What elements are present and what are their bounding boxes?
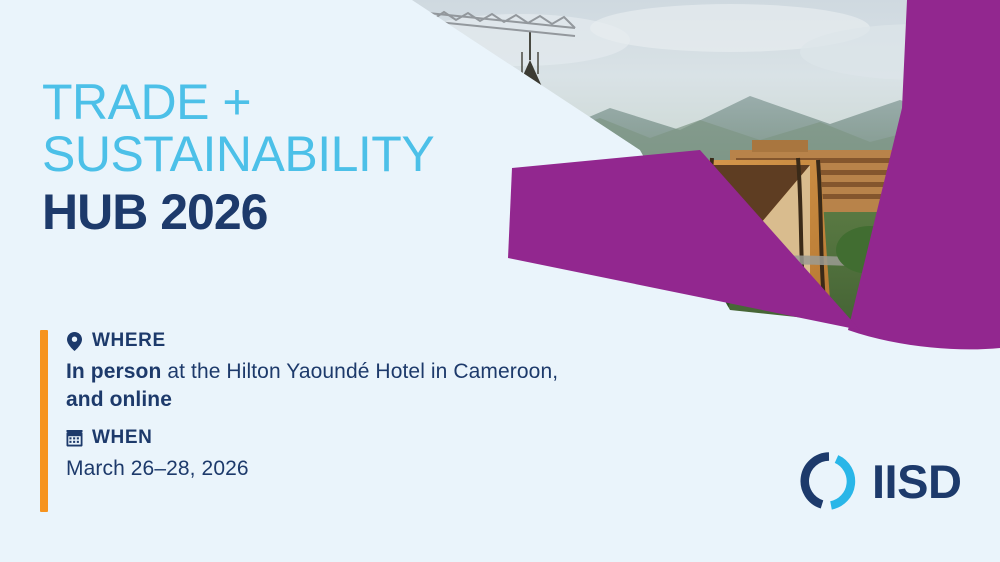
photo-antenna: [929, 60, 951, 160]
where-text: In person at the Hilton Yaoundé Hotel in…: [66, 358, 560, 413]
event-details: WHERE In person at the Hilton Yaoundé Ho…: [40, 330, 560, 483]
photo-pavilion: [580, 286, 630, 308]
orange-accent-bar: [40, 330, 48, 512]
where-label: WHERE: [92, 330, 166, 352]
purple-shape-right: [848, 0, 1000, 349]
iisd-circle-icon: [800, 452, 858, 510]
title-line-1: TRADE +: [42, 76, 434, 128]
detail-where: WHERE In person at the Hilton Yaoundé Ho…: [66, 330, 560, 413]
photo-cars: [472, 284, 566, 303]
photo-building-lower: [480, 224, 650, 300]
page-title: TRADE + SUSTAINABILITY HUB 2026: [42, 76, 434, 238]
when-heading: WHEN: [66, 427, 560, 449]
where-text-plain: at the Hilton Yaoundé Hotel in Cameroon,: [161, 360, 558, 383]
map-pin-icon: [66, 332, 83, 351]
when-text: March 26–28, 2026: [66, 455, 560, 483]
iisd-logo: IISD: [800, 452, 961, 510]
photo-trees: [576, 208, 950, 322]
where-text-bold-1: In person: [66, 360, 161, 383]
detail-when: WHEN March 26–28, 2026: [66, 427, 560, 483]
title-line-2: SUSTAINABILITY: [42, 128, 434, 180]
photo-building-slab: [730, 140, 900, 212]
photo-block-left: [420, 140, 550, 220]
where-text-bold-2: and online: [66, 388, 172, 411]
where-heading: WHERE: [66, 330, 560, 352]
calendar-icon: [66, 429, 83, 448]
event-promo-banner: TRADE + SUSTAINABILITY HUB 2026 WHERE In…: [0, 0, 1000, 562]
photo-conference-hall: [680, 158, 830, 300]
photo-tower: [512, 32, 548, 190]
when-label: WHEN: [92, 427, 152, 449]
purple-wedge-left: [508, 150, 860, 330]
title-line-3: HUB 2026: [42, 186, 434, 238]
photo-crane: [418, 12, 575, 36]
iisd-wordmark: IISD: [872, 458, 961, 505]
